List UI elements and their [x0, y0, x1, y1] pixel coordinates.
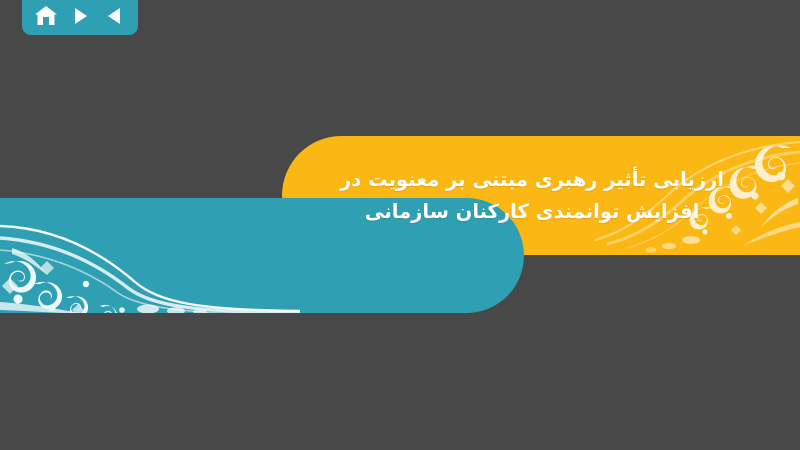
next-button[interactable] — [67, 3, 93, 29]
triangle-left-icon — [106, 7, 123, 25]
triangle-right-icon — [72, 7, 89, 25]
presentation-slide: ارزیابی تأثیر رهبری مبتنی بر معنویت در ا… — [0, 0, 800, 450]
home-button[interactable] — [33, 3, 59, 29]
navigation-bar — [22, 0, 138, 35]
home-icon — [35, 6, 57, 26]
previous-button[interactable] — [101, 3, 127, 29]
slide-title: ارزیابی تأثیر رهبری مبتنی بر معنویت در ا… — [282, 136, 800, 255]
arabesque-ornament — [0, 198, 300, 313]
title-panel: ارزیابی تأثیر رهبری مبتنی بر معنویت در ا… — [282, 136, 800, 255]
title-line-2: افزایش توانمندی کارکنان سازمانی — [365, 197, 700, 227]
title-line-1: ارزیابی تأثیر رهبری مبتنی بر معنویت در — [340, 165, 724, 195]
